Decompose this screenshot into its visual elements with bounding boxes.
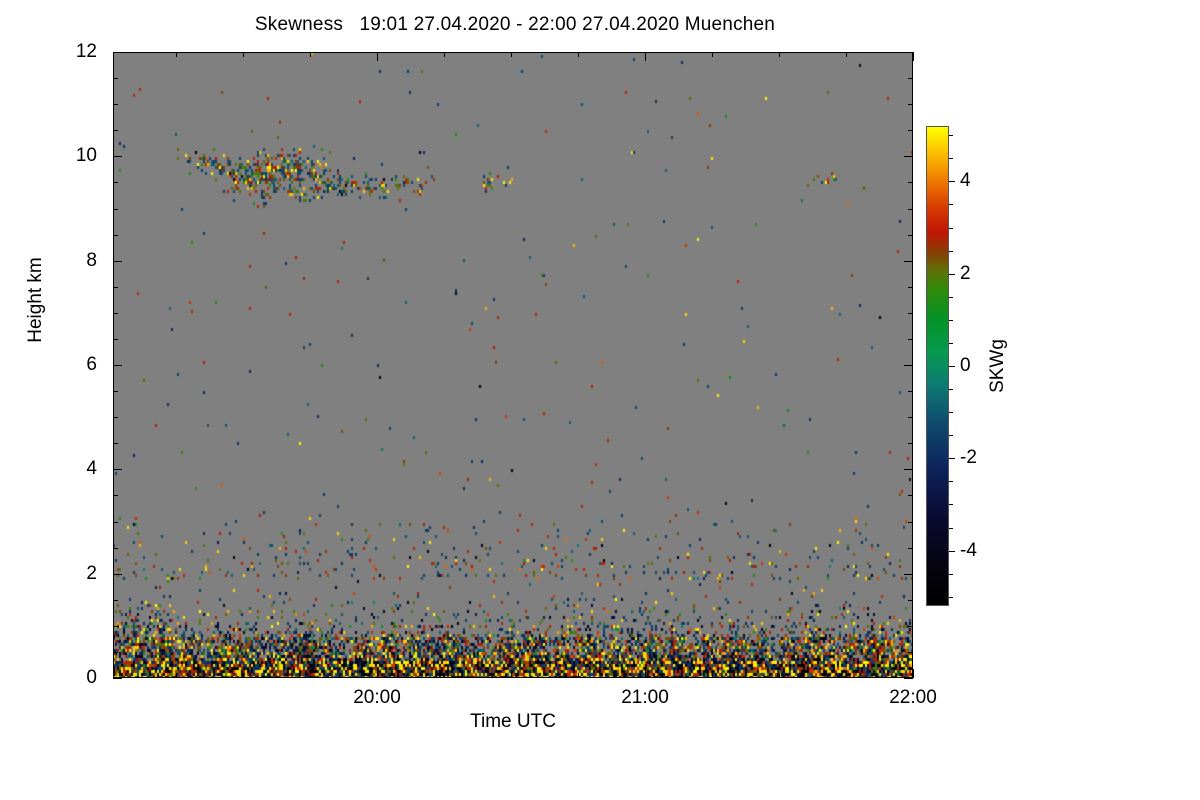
x-tick-minor [176,673,177,678]
colorbar-tick-minor [949,135,953,136]
colorbar-tick [949,181,955,182]
y-tick-label: 10 [76,146,97,165]
y-tick-minor [113,209,118,210]
y-tick-major-right [904,574,913,575]
y-tick-minor [113,443,118,444]
x-tick-minor [779,673,780,678]
colorbar-tick-label: 4 [960,171,971,190]
y-tick-minor [113,495,118,496]
y-tick-minor-right [908,652,913,653]
y-tick-minor [113,78,118,79]
y-axis-title: Height km [25,257,47,343]
y-tick-minor-right [908,130,913,131]
x-tick-major-top [645,52,646,61]
colorbar-tick-minor [949,528,953,529]
y-tick-minor [113,391,118,392]
colorbar-tick [949,458,955,459]
colorbar-title: SKWg [987,339,1009,393]
colorbar-tick-label: -4 [960,541,977,560]
colorbar-tick-label: 0 [960,356,971,375]
x-tick-minor-top [176,52,177,57]
y-tick-minor [113,313,118,314]
x-tick-major-top [377,52,378,61]
x-axis-title: Time UTC [113,711,913,733]
y-tick-minor-right [908,391,913,392]
y-tick-minor [113,287,118,288]
y-tick-minor-right [908,443,913,444]
colorbar-tick-minor [949,412,953,413]
y-tick-major [113,261,122,262]
y-tick-minor-right [908,313,913,314]
x-tick-minor [578,673,579,678]
y-tick-major-right [904,469,913,470]
x-tick-minor [712,673,713,678]
y-tick-major [113,469,122,470]
heatmap-data-canvas [113,52,913,678]
y-tick-major-right [904,261,913,262]
y-tick-label: 2 [86,564,97,583]
x-tick-minor-top [846,52,847,57]
x-tick-minor [243,673,244,678]
y-tick-minor-right [908,495,913,496]
colorbar-tick-minor [949,320,953,321]
x-tick-label: 21:00 [585,688,705,707]
y-tick-label: 8 [86,251,97,270]
colorbar-tick-minor [949,204,953,205]
y-tick-label: 4 [86,459,97,478]
x-tick-minor-top [712,52,713,57]
colorbar-tick [949,366,955,367]
colorbar-tick-minor [949,343,953,344]
y-tick-minor-right [908,78,913,79]
y-tick-minor [113,600,118,601]
y-tick-minor-right [908,182,913,183]
y-tick-minor-right [908,626,913,627]
colorbar-gradient [926,126,949,606]
colorbar-tick-minor [949,504,953,505]
y-tick-label: 12 [76,42,97,61]
colorbar-tick-label: 2 [960,264,971,283]
y-tick-label: 6 [86,355,97,374]
x-tick-label: 22:00 [853,688,973,707]
y-tick-major [113,365,122,366]
y-tick-minor-right [908,522,913,523]
y-tick-minor [113,548,118,549]
y-tick-major-right [904,678,913,679]
x-tick-minor-top [511,52,512,57]
colorbar-tick-minor [949,228,953,229]
x-tick-major [377,669,378,678]
colorbar-tick-label: -2 [960,448,977,467]
y-tick-minor [113,104,118,105]
x-tick-minor-top [243,52,244,57]
plot-title: Skewness 19:01 27.04.2020 - 22:00 27.04.… [0,14,1030,36]
y-tick-label: 0 [86,668,97,687]
y-tick-minor [113,235,118,236]
y-tick-major [113,52,122,53]
y-tick-minor [113,130,118,131]
colorbar-tick-minor [949,251,953,252]
y-tick-minor-right [908,339,913,340]
x-tick-minor-top [779,52,780,57]
y-tick-minor-right [908,235,913,236]
colorbar[interactable] [926,126,949,606]
x-tick-minor-top [578,52,579,57]
x-tick-minor [310,673,311,678]
colorbar-tick-minor [949,435,953,436]
y-tick-minor [113,626,118,627]
colorbar-tick-minor [949,574,953,575]
heatmap-plot-area[interactable] [113,52,913,678]
y-tick-minor-right [908,209,913,210]
y-tick-minor [113,339,118,340]
colorbar-tick-minor [949,481,953,482]
x-tick-major-top [913,52,914,61]
y-tick-minor-right [908,600,913,601]
colorbar-tick-minor [949,389,953,390]
y-tick-minor-right [908,548,913,549]
figure-canvas: Skewness 19:01 27.04.2020 - 22:00 27.04.… [0,0,1200,800]
x-tick-minor-top [444,52,445,57]
y-tick-major-right [904,156,913,157]
x-tick-minor [511,673,512,678]
x-tick-major [645,669,646,678]
colorbar-tick-minor [949,158,953,159]
y-tick-minor-right [908,417,913,418]
y-tick-major [113,678,122,679]
y-tick-minor-right [908,287,913,288]
x-tick-major [913,669,914,678]
y-tick-major-right [904,52,913,53]
y-tick-minor [113,417,118,418]
colorbar-tick-minor [949,597,953,598]
x-tick-minor [444,673,445,678]
y-tick-minor [113,652,118,653]
x-tick-minor-top [310,52,311,57]
colorbar-tick [949,551,955,552]
y-tick-minor [113,182,118,183]
colorbar-tick [949,274,955,275]
y-tick-major [113,156,122,157]
y-tick-minor-right [908,104,913,105]
y-tick-major [113,574,122,575]
x-tick-minor [846,673,847,678]
y-tick-minor [113,522,118,523]
y-tick-major-right [904,365,913,366]
colorbar-tick-minor [949,297,953,298]
x-tick-label: 20:00 [317,688,437,707]
